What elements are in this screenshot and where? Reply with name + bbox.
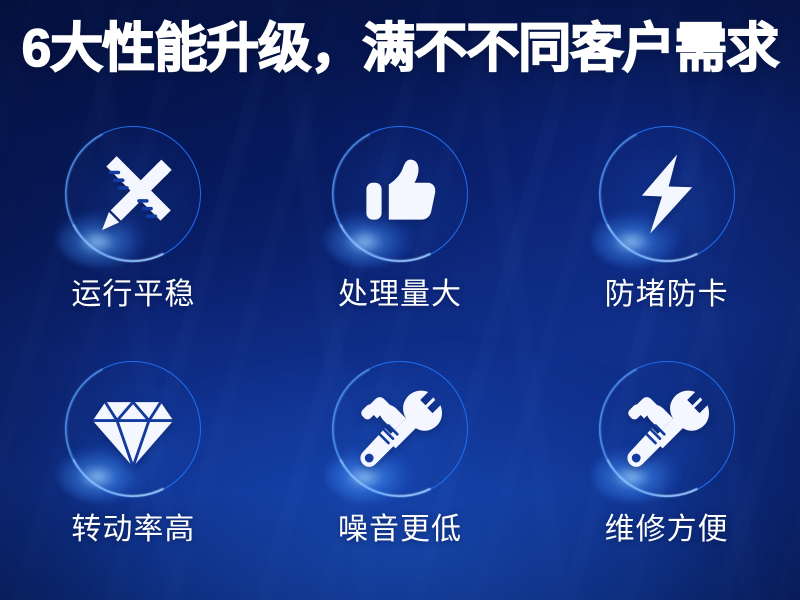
- lightning-bolt-icon: [625, 152, 709, 236]
- feature-label: 噪音更低: [338, 513, 462, 547]
- feature-badge: [332, 126, 468, 262]
- hammer-wrench-icon: [356, 385, 444, 473]
- hammer-wrench-icon: [623, 385, 711, 473]
- feature-badge: [332, 361, 468, 497]
- feature-badge: [599, 126, 735, 262]
- feature-label: 维修方便: [605, 513, 729, 547]
- feature-label: 运行平稳: [71, 278, 195, 312]
- thumbs-up-icon: [360, 154, 440, 234]
- feature-badge: [65, 361, 201, 497]
- feature-item-防堵防卡: 防堵防卡: [533, 118, 800, 353]
- feature-item-运行平稳: 运行平稳: [0, 118, 267, 353]
- feature-item-转动率高: 转动率高: [0, 353, 267, 588]
- feature-grid: 运行平稳 处理量大: [0, 118, 800, 588]
- feature-item-维修方便: 维修方便: [533, 353, 800, 588]
- feature-item-处理量大: 处理量大: [267, 118, 534, 353]
- feature-label: 处理量大: [338, 278, 462, 312]
- page-title: 6大性能升级，满不不同客户需求: [0, 18, 800, 80]
- feature-poster: 6大性能升级，满不不同客户需求: [0, 0, 800, 600]
- feature-badge: [599, 361, 735, 497]
- diamond-icon: [91, 387, 175, 471]
- feature-label: 转动率高: [71, 513, 195, 547]
- feature-label: 防堵防卡: [605, 278, 729, 312]
- pencil-ruler-icon: [90, 151, 176, 237]
- feature-item-噪音更低: 噪音更低: [267, 353, 534, 588]
- feature-badge: [65, 126, 201, 262]
